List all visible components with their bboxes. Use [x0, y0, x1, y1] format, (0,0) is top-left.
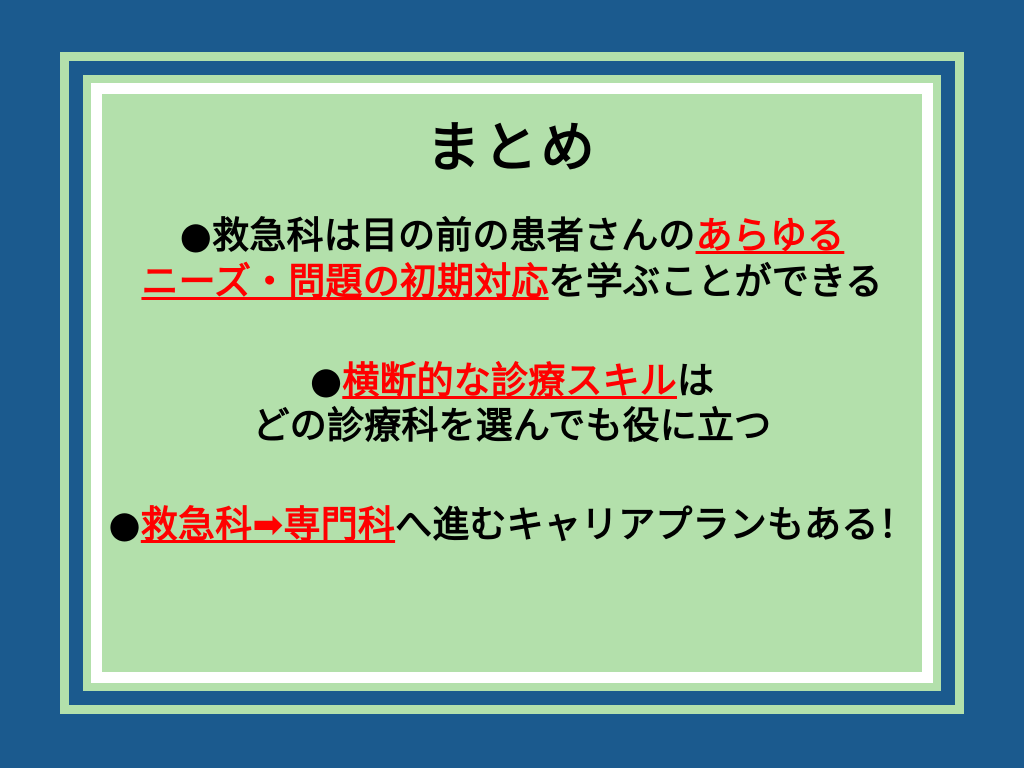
bullet-text: は — [677, 359, 714, 402]
decorative-frame-blue: まとめ ●救急科は目の前の患者さんのあらゆるニーズ・問題の初期対応を学ぶことがで… — [69, 61, 955, 705]
slide-content-area: まとめ ●救急科は目の前の患者さんのあらゆるニーズ・問題の初期対応を学ぶことがで… — [102, 94, 922, 672]
decorative-frame-green-outer: まとめ ●救急科は目の前の患者さんのあらゆるニーズ・問題の初期対応を学ぶことがで… — [60, 52, 964, 714]
emphasis-text: 横断的な診療スキル — [342, 359, 677, 402]
bullet-marker-icon: ● — [310, 359, 342, 402]
bullet-text: を学ぶことができる — [549, 260, 883, 303]
decorative-frame-white: まとめ ●救急科は目の前の患者さんのあらゆるニーズ・問題の初期対応を学ぶことがで… — [91, 83, 933, 683]
emphasis-text: あらゆる — [696, 214, 845, 257]
bullet-marker-icon: ● — [108, 503, 140, 546]
bullet-line: どの診療科を選んでも役に立つ — [102, 403, 922, 448]
bullet-text: へ進むキャリアプランもある！ — [395, 503, 916, 546]
bullet-line: ●救急科➡専門科へ進むキャリアプランもある！ — [102, 502, 922, 547]
page-title: まとめ — [102, 94, 922, 177]
decorative-frame-green-inner: まとめ ●救急科は目の前の患者さんのあらゆるニーズ・問題の初期対応を学ぶことがで… — [83, 75, 941, 691]
bullet-line: ニーズ・問題の初期対応を学ぶことができる — [102, 259, 922, 304]
bullet-line: ●横断的な診療スキルは — [102, 358, 922, 403]
bullet-item-3: ●救急科➡専門科へ進むキャリアプランもある！ — [102, 502, 922, 547]
bullet-text: 救急科は目の前の患者さんの — [212, 214, 695, 257]
bullet-marker-icon: ● — [180, 214, 212, 257]
bullet-line: ●救急科は目の前の患者さんのあらゆる — [102, 213, 922, 258]
bullet-item-1: ●救急科は目の前の患者さんのあらゆるニーズ・問題の初期対応を学ぶことができる — [102, 213, 922, 303]
bullet-text: どの診療科を選んでも役に立つ — [253, 404, 772, 447]
emphasis-text: 救急科➡専門科 — [141, 503, 395, 546]
emphasis-text: ニーズ・問題の初期対応 — [141, 260, 548, 303]
bullet-item-2: ●横断的な診療スキルはどの診療科を選んでも役に立つ — [102, 358, 922, 448]
presentation-slide: まとめ ●救急科は目の前の患者さんのあらゆるニーズ・問題の初期対応を学ぶことがで… — [0, 0, 1024, 768]
